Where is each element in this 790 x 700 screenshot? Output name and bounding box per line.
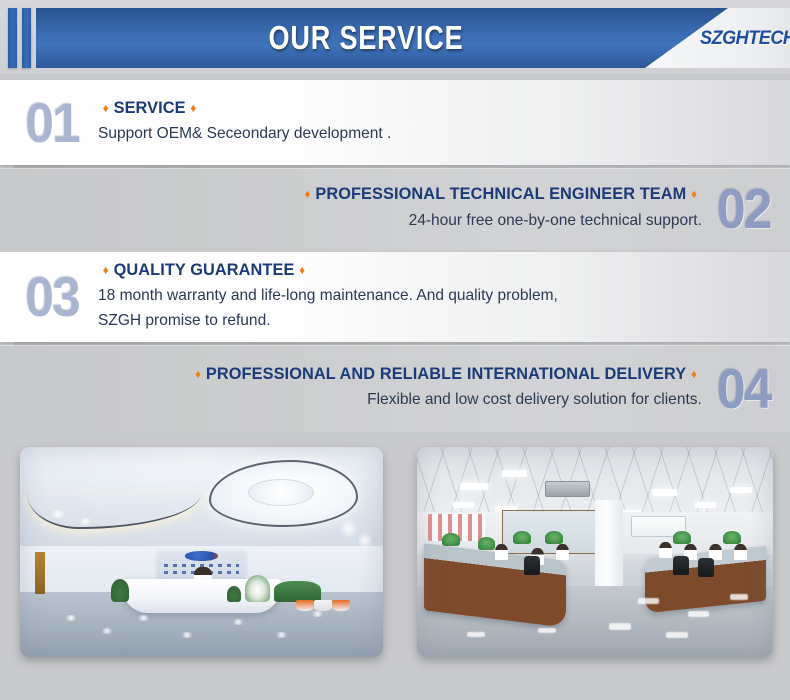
service-heading-04: ♦PROFESSIONAL AND RELIABLE INTERNATIONAL… [190, 364, 702, 384]
service-number-04: 04 [717, 361, 787, 417]
service-heading-text: PROFESSIONAL AND RELIABLE INTERNATIONAL … [206, 364, 686, 383]
service-body-03-line-2: SZGH promise to refund. [98, 309, 558, 334]
service-row-01: 01 ♦SERVICE♦ Support OEM& Seceondary dev… [0, 80, 790, 165]
diamond-bullet-icon: ♦ [295, 263, 311, 277]
page-title: OUR SERVICE [95, 8, 636, 68]
header-accent-stripe-1 [8, 8, 17, 68]
diamond-bullet-icon: ♦ [98, 263, 114, 277]
diamond-bullet-icon: ♦ [300, 187, 316, 201]
service-heading-text: QUALITY GUARANTEE [114, 260, 295, 279]
company-logo-szghtech: SZGHTECH [700, 28, 790, 50]
service-heading-01: ♦SERVICE♦ [98, 98, 388, 118]
service-body-02-line-1: 24-hour free one-by-one technical suppor… [295, 209, 701, 234]
service-row-04: ♦PROFESSIONAL AND RELIABLE INTERNATIONAL… [0, 345, 790, 432]
diamond-bullet-icon: ♦ [686, 367, 702, 381]
service-number-02: 02 [717, 181, 787, 237]
page-header-banner: OUR SERVICE SZGHTECH [0, 0, 790, 74]
open-plan-office-workstations-photo [417, 447, 773, 657]
diamond-bullet-icon: ♦ [190, 367, 206, 381]
diamond-bullet-icon: ♦ [686, 187, 702, 201]
office-lobby-reception-photo [20, 447, 383, 657]
service-body-01-line-1: Support OEM& Seceondary development . [98, 122, 391, 147]
service-row-02: ♦PROFESSIONAL TECHNICAL ENGINEER TEAM♦ 2… [0, 168, 790, 250]
service-number-01: 01 [3, 95, 79, 151]
service-heading-text: SERVICE [114, 98, 186, 117]
service-body-03-line-1: 18 month warranty and life-long maintena… [98, 284, 558, 309]
service-heading-03: ♦QUALITY GUARANTEE♦ [98, 260, 553, 280]
service-body-04-line-1: Flexible and low cost delivery solution … [185, 388, 702, 413]
service-heading-text: PROFESSIONAL TECHNICAL ENGINEER TEAM [315, 184, 686, 203]
diamond-bullet-icon: ♦ [186, 101, 202, 115]
service-heading-02: ♦PROFESSIONAL TECHNICAL ENGINEER TEAM♦ [300, 184, 702, 204]
facility-photo-gallery [0, 447, 790, 700]
service-number-03: 03 [3, 269, 79, 325]
diamond-bullet-icon: ♦ [98, 101, 114, 115]
service-row-03: 03 ♦QUALITY GUARANTEE♦ 18 month warranty… [0, 252, 790, 342]
header-accent-stripe-2 [22, 8, 31, 68]
header-band: OUR SERVICE SZGHTECH [36, 8, 790, 68]
